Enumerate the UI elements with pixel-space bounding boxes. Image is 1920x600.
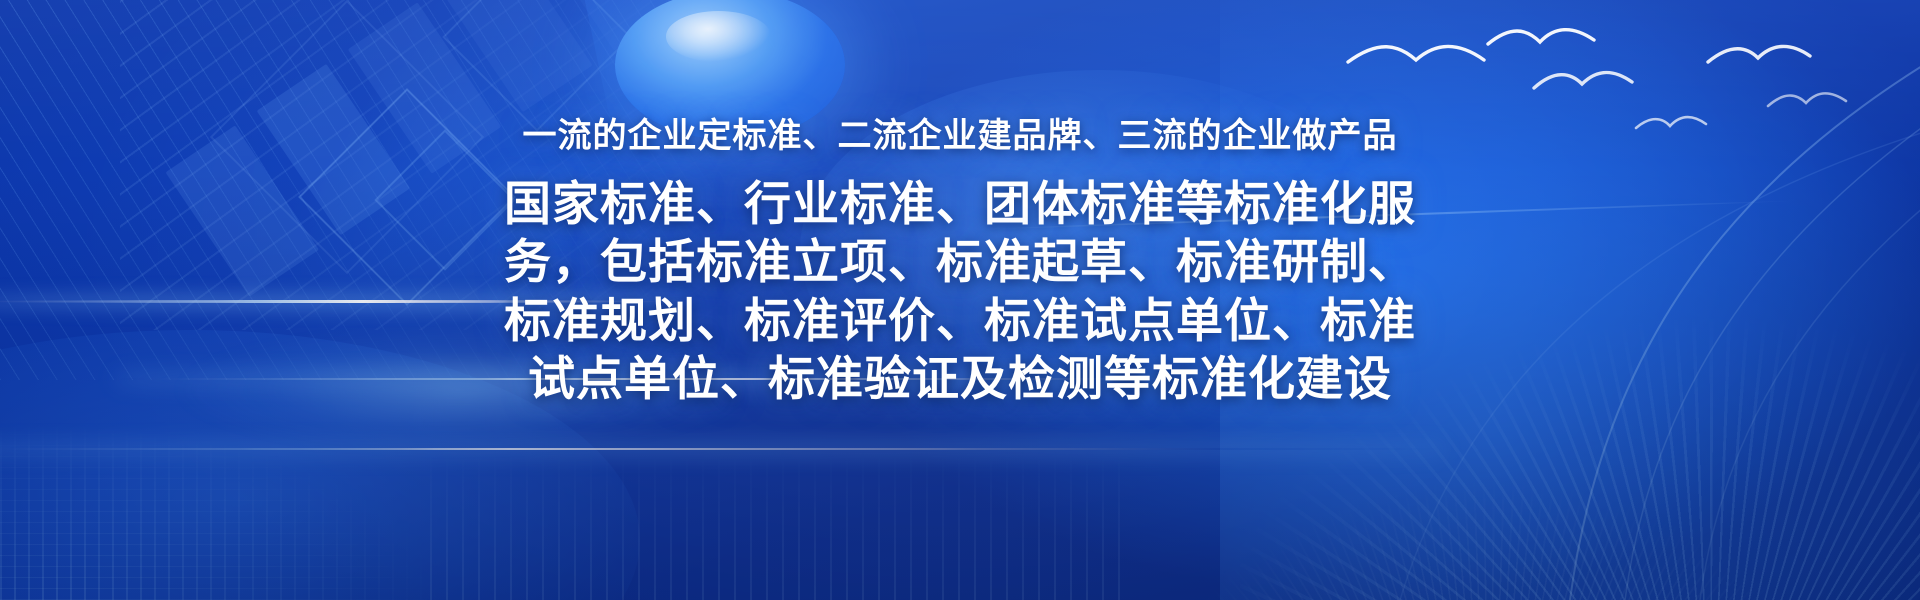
headline-line: 务，包括标准立项、标准起草、标准研制、	[504, 233, 1416, 291]
banner-subtitle: 一流的企业定标准、二流企业建品牌、三流的企业做产品	[523, 108, 1398, 157]
banner-headline: 国家标准、行业标准、团体标准等标准化服 务，包括标准立项、标准起草、标准研制、 …	[504, 175, 1416, 408]
headline-line: 标准规划、标准评价、标准试点单位、标准	[504, 292, 1416, 350]
headline-line: 国家标准、行业标准、团体标准等标准化服	[504, 175, 1416, 233]
banner-text-container: 一流的企业定标准、二流企业建品牌、三流的企业做产品 国家标准、行业标准、团体标准…	[0, 0, 1920, 600]
headline-line: 试点单位、标准验证及检测等标准化建设	[504, 350, 1416, 408]
hero-banner: 一流的企业定标准、二流企业建品牌、三流的企业做产品 国家标准、行业标准、团体标准…	[0, 0, 1920, 600]
